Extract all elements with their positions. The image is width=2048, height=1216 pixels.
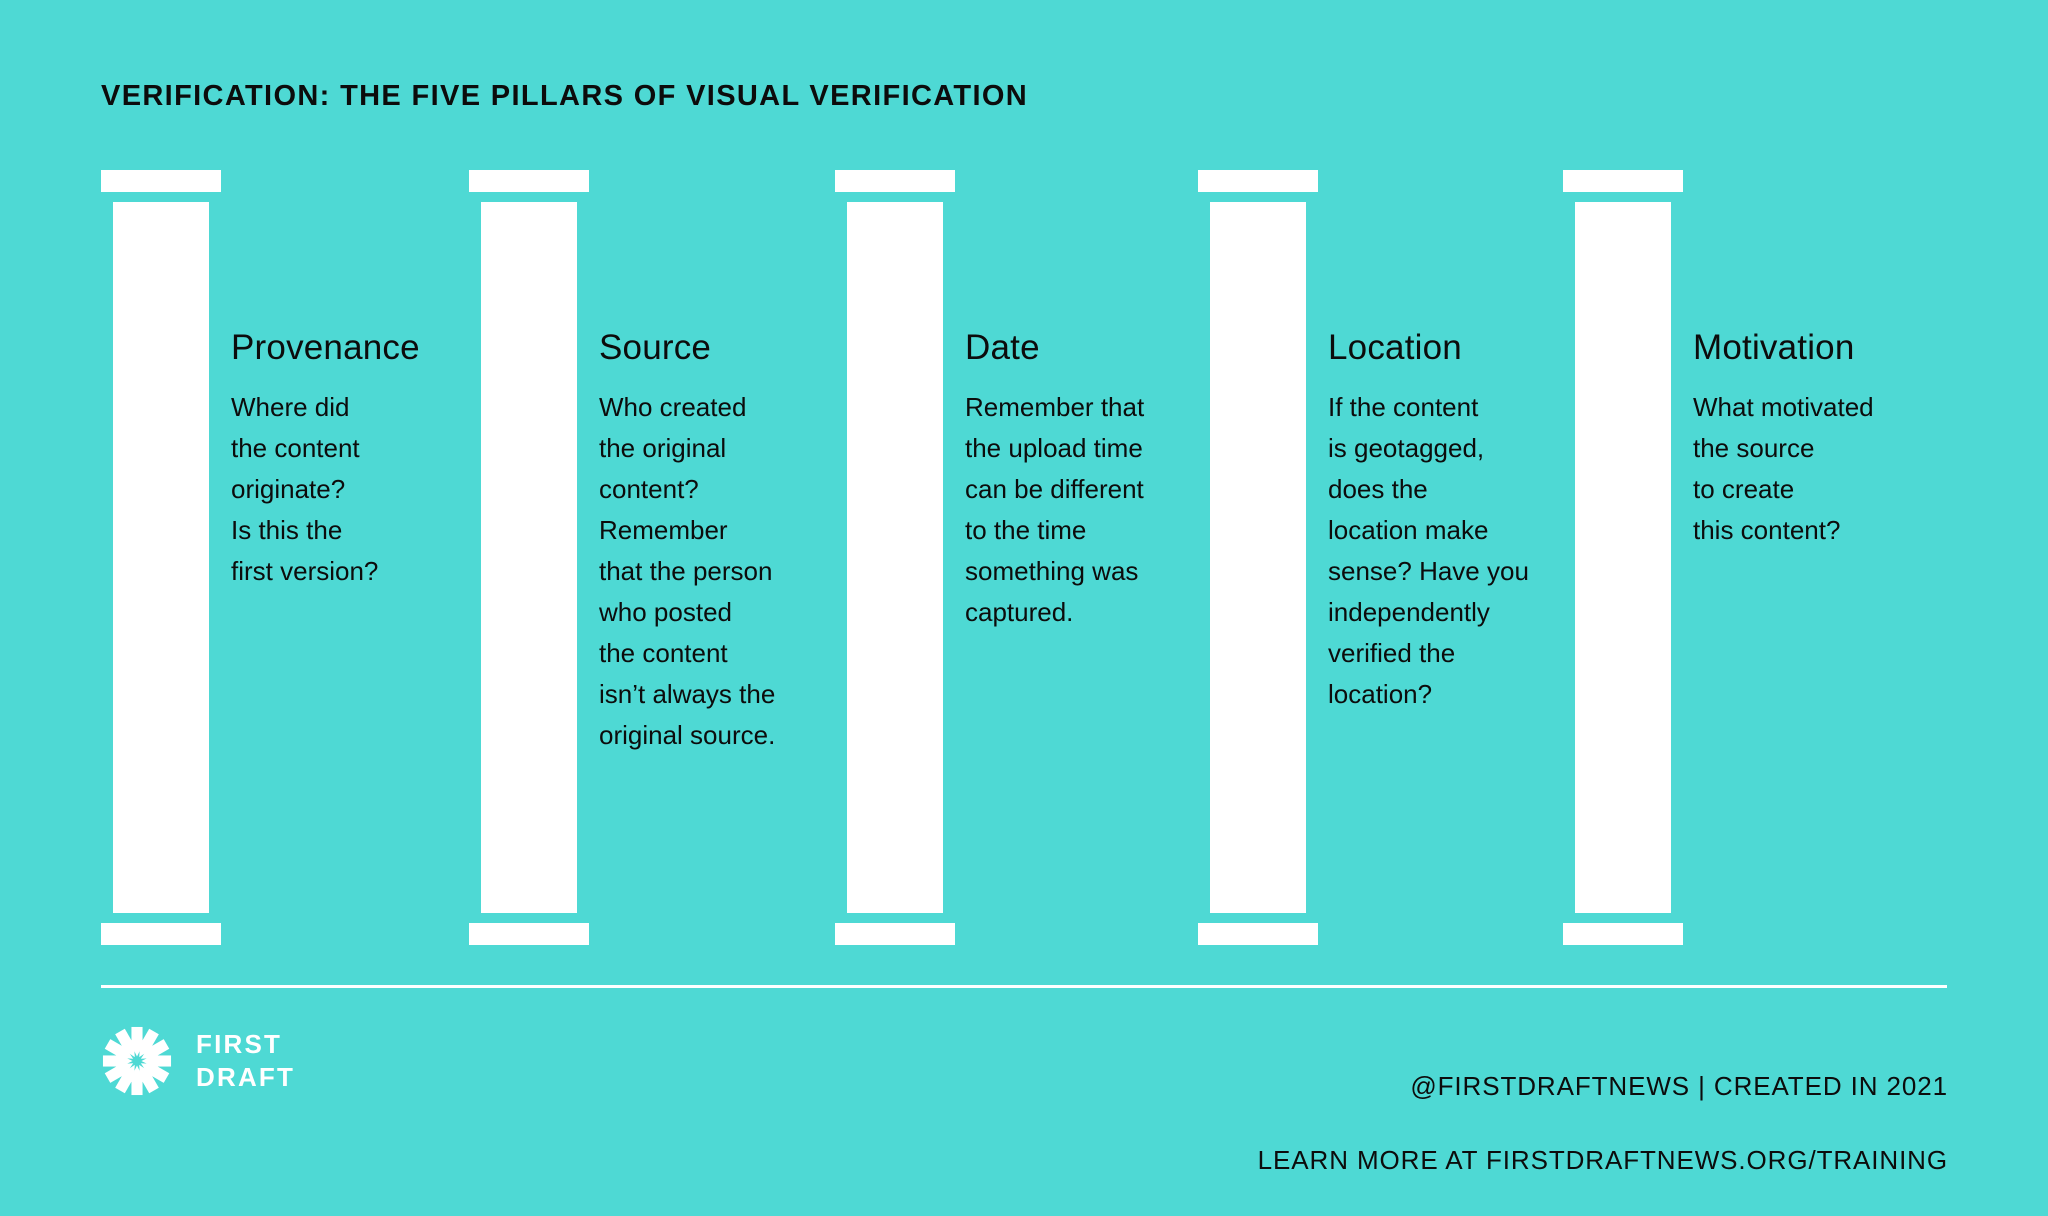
pillar-text-motivation: Motivation What motivated the source to …: [1693, 330, 1958, 551]
pillar-heading: Location: [1328, 330, 1598, 365]
footer-divider: [101, 985, 1947, 988]
footer-learn-more-line: LEARN MORE AT FIRSTDRAFTNEWS.ORG/TRAININ…: [1258, 1142, 1948, 1179]
pillar-text-provenance: Provenance Where did the content origina…: [231, 330, 456, 592]
pillar-cap-icon: [469, 170, 589, 192]
pillar-body: Where did the content originate? Is this…: [231, 387, 456, 592]
pillar-cap-icon: [1563, 170, 1683, 192]
pillar-cap-icon: [1198, 170, 1318, 192]
pillar-shaft-icon: [1210, 202, 1306, 913]
pillar-base-icon: [469, 923, 589, 945]
logo-wordmark: FIRST DRAFT: [196, 1028, 295, 1094]
pillar-body: Remember that the upload time can be dif…: [965, 387, 1225, 633]
pillar-shaft-icon: [113, 202, 209, 913]
pillar-heading: Motivation: [1693, 330, 1958, 365]
pillar-cap-icon: [101, 170, 221, 192]
pillar-heading: Date: [965, 330, 1225, 365]
pillar-shaft-icon: [1575, 202, 1671, 913]
pillar-base-icon: [101, 923, 221, 945]
pillar-text-source: Source Who created the original content?…: [599, 330, 849, 756]
footer-credits: @FIRSTDRAFTNEWS | CREATED IN 2021 LEARN …: [1258, 1031, 1948, 1216]
pillar-shaft-icon: [481, 202, 577, 913]
pillar-heading: Provenance: [231, 330, 456, 365]
pillars-container: Provenance Where did the content origina…: [0, 0, 2048, 960]
pillar-heading: Source: [599, 330, 849, 365]
starburst-logo-icon: [100, 1024, 174, 1098]
pillar-text-location: Location If the content is geotagged, do…: [1328, 330, 1598, 715]
pillar-base-icon: [835, 923, 955, 945]
pillar-shaft-icon: [847, 202, 943, 913]
pillar-base-icon: [1198, 923, 1318, 945]
pillar-base-icon: [1563, 923, 1683, 945]
pillar-body: If the content is geotagged, does the lo…: [1328, 387, 1598, 715]
pillar-cap-icon: [835, 170, 955, 192]
pillar-body: Who created the original content? Rememb…: [599, 387, 849, 756]
infographic-canvas: VERIFICATION: THE FIVE PILLARS OF VISUAL…: [0, 0, 2048, 1152]
first-draft-logo: FIRST DRAFT: [100, 1024, 295, 1098]
pillar-text-date: Date Remember that the upload time can b…: [965, 330, 1225, 633]
footer-handle-line: @FIRSTDRAFTNEWS | CREATED IN 2021: [1258, 1068, 1948, 1105]
pillar-body: What motivated the source to create this…: [1693, 387, 1958, 551]
